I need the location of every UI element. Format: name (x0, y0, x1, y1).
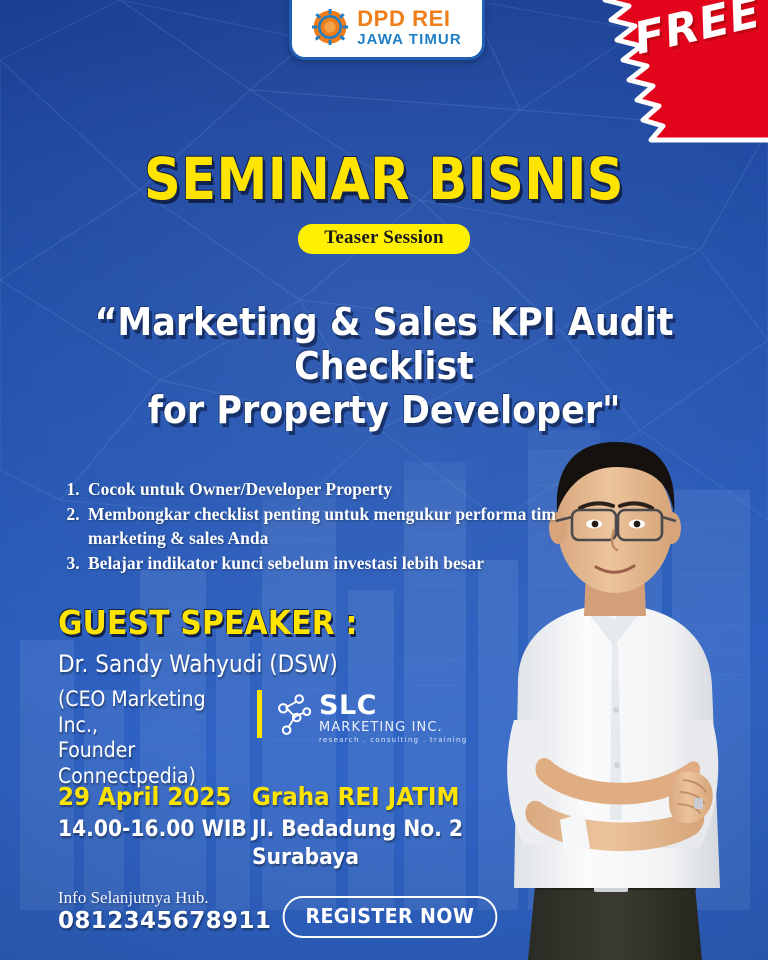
slc-marketing-logo: SLC MARKETING INC. research . consulting… (278, 692, 468, 744)
list-item: Belajar indikator kunci sebelum investas… (84, 551, 558, 575)
teaser-session-badge: Teaser Session (298, 224, 469, 254)
vertical-divider (257, 690, 262, 738)
venue-street: Jl. Bedadung No. 2 (252, 816, 463, 844)
slc-services: research . consulting . training (319, 737, 468, 744)
network-nodes-icon (278, 694, 312, 736)
slc-name: SLC (319, 692, 468, 719)
list-item: Cocok untuk Owner/Developer Property (84, 477, 558, 501)
list-item: Membongkar checklist penting untuk mengu… (84, 502, 558, 550)
event-date-block: 29 April 2025 14.00-16.00 WIB (58, 782, 263, 844)
logo-secondary-text: JAWA TIMUR (357, 32, 462, 47)
speaker-name: Dr. Sandy Wahyudi (DSW) (58, 650, 338, 678)
speaker-role: (CEO Marketing Inc., Founder Connectpedi… (58, 687, 252, 789)
contact-label: Info Selanjutnya Hub. (58, 888, 209, 908)
guest-speaker-label: GUEST SPEAKER : (58, 603, 358, 642)
slc-tagline: MARKETING INC. (319, 721, 468, 734)
venue-address: Jl. Bedadung No. 2 Surabaya (252, 816, 463, 871)
venue-name: Graha REI JATIM (252, 782, 463, 811)
event-venue-block: Graha REI JATIM Jl. Bedadung No. 2 Surab… (252, 782, 481, 871)
event-date: 29 April 2025 (58, 782, 247, 811)
venue-city: Surabaya (252, 844, 463, 872)
dpd-rei-logo-card: DPD REI JAWA TIMUR (289, 0, 485, 60)
logo-primary-text: DPD REI (357, 8, 462, 30)
benefits-list: Cocok untuk Owner/Developer Property Mem… (58, 477, 558, 577)
headline-line-1: “Marketing & Sales KPI Audit Checklist (47, 300, 720, 388)
seminar-headline: “Marketing & Sales KPI Audit Checklist f… (47, 300, 720, 432)
teaser-pill-wrap: Teaser Session (0, 224, 768, 254)
headline-line-2: for Property Developer" (47, 388, 720, 432)
page-title: SEMINAR BISNIS (46, 145, 722, 213)
speaker-role-line-1: (CEO Marketing Inc., (58, 687, 252, 738)
free-badge: FREE ! (555, 0, 768, 140)
seminar-poster: LV (0, 0, 768, 960)
rei-circular-emblem-icon (312, 9, 348, 45)
event-time: 14.00-16.00 WIB (58, 816, 247, 844)
contact-phone[interactable]: 0812345678911 (58, 908, 271, 934)
register-now-button[interactable]: REGISTER NOW (283, 896, 497, 938)
